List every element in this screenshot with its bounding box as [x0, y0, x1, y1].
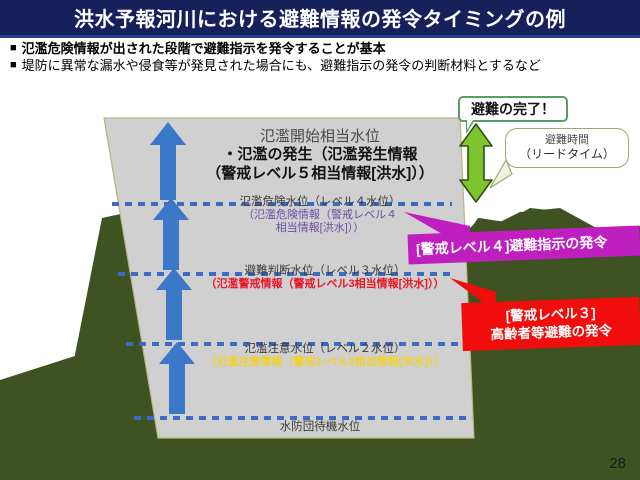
evacuation-complete-text: 避難の完了！ — [471, 99, 555, 119]
level-4-banner-text: [警戒レベル４]避難指示の発令 — [416, 232, 608, 259]
level-3-banner: [警戒レベル３] 高齢者等避難の発令 — [461, 297, 640, 351]
evacuation-complete-bubble: 避難の完了！ — [458, 96, 568, 122]
leadtime-box: 避難時間 （リードタイム） — [505, 128, 629, 168]
bullet-item: ■ 氾濫危険情報が出された段階で避難指示を発令することが基本 — [10, 40, 635, 57]
bullet-list: ■ 氾濫危険情報が出された段階で避難指示を発令することが基本 ■ 堤防に異常な漏… — [10, 40, 635, 74]
river-channel — [104, 118, 474, 438]
leadtime-label-line2: （リードタイム） — [519, 147, 615, 162]
bullet-text: 堤防に異常な漏水や侵食等が発見された場合にも、避難指示の発令の判断材料とするなど — [22, 57, 635, 74]
slide-title-bar: 洪水予報河川における避難情報の発令タイミングの例 — [0, 0, 640, 38]
page-number: 28 — [609, 455, 626, 472]
square-bullet-icon: ■ — [10, 57, 17, 74]
bullet-item: ■ 堤防に異常な漏水や侵食等が発見された場合にも、避難指示の発令の判断材料とする… — [10, 57, 635, 74]
leadtime-double-arrow — [460, 124, 492, 202]
square-bullet-icon: ■ — [10, 40, 17, 57]
level-3-banner-text-line2: 高齢者等避難の発令 — [490, 322, 612, 344]
bullet-text: 氾濫危険情報が出された段階で避難指示を発令することが基本 — [22, 40, 635, 57]
bubble-tail-inner-icon — [467, 120, 473, 130]
slide-root: 洪水予報河川における避難情報の発令タイミングの例 ■ 氾濫危険情報が出された段階… — [0, 0, 640, 480]
page-title: 洪水予報河川における避難情報の発令タイミングの例 — [74, 3, 566, 32]
leadtime-label-line1: 避難時間 — [545, 134, 589, 148]
